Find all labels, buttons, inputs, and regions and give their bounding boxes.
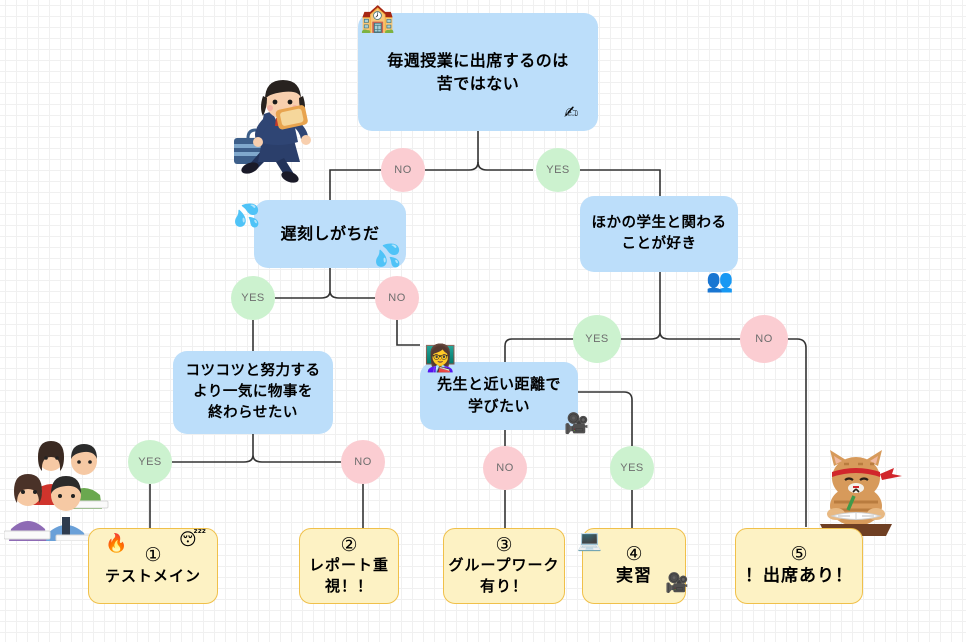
decision-no-q1[interactable]: NO: [381, 148, 425, 192]
decision-label: YES: [585, 333, 609, 345]
decision-yes-q2[interactable]: YES: [231, 276, 275, 320]
decision-label: NO: [394, 164, 412, 176]
decision-yes-q1[interactable]: YES: [536, 148, 580, 192]
decision-label: NO: [388, 292, 406, 304]
result-label-3: グループワーク 有り！: [448, 555, 559, 597]
result-box-4[interactable]: ④ 実習: [582, 528, 686, 604]
question-text-q2: 遅刻しがちだ: [280, 222, 379, 245]
result-label-1: テストメイン: [105, 566, 201, 587]
decision-yes-q3[interactable]: YES: [573, 315, 621, 363]
decision-yes-q4[interactable]: YES: [128, 440, 172, 484]
decision-label: YES: [241, 292, 265, 304]
busts-in-silhouette-icon: 👥: [706, 270, 733, 292]
question-text-q4: コツコツと努力する より一気に物事を 終わらせたい: [186, 361, 321, 424]
question-box-q3[interactable]: ほかの学生と関わる ことが好き: [580, 196, 738, 272]
question-text-q5: 先生と近い距離で 学びたい: [437, 374, 561, 418]
result-label-5: ！出席あり！: [745, 565, 853, 589]
result-number-3: ③: [495, 535, 512, 556]
result-box-5[interactable]: ⑤ ！出席あり！: [735, 528, 863, 604]
decision-no-q2[interactable]: NO: [375, 276, 419, 320]
flowchart-canvas: 毎週授業に出席するのは 苦ではない 🏫 ✍ 遅刻しがちだ 💦 💦 ほかの学生と関…: [0, 0, 966, 642]
result-number-4: ④: [625, 544, 642, 565]
decision-label: NO: [496, 462, 514, 474]
decision-no-q4[interactable]: NO: [341, 440, 385, 484]
running-student-with-toast-illustration: [228, 78, 328, 183]
question-box-q1[interactable]: 毎週授業に出席するのは 苦ではない: [358, 13, 598, 131]
decision-no-q3[interactable]: NO: [740, 315, 788, 363]
studying-cat-illustration: [810, 444, 902, 540]
result-box-2[interactable]: ② レポート重 視！！: [299, 528, 399, 604]
decision-label: YES: [546, 164, 570, 176]
question-text-q3: ほかの学生と関わる ことが好き: [592, 213, 727, 255]
result-box-3[interactable]: ③ グループワーク 有り！: [443, 528, 565, 604]
decision-label: YES: [620, 462, 644, 474]
result-label-2: レポート重 視！！: [309, 555, 389, 597]
question-text-q1: 毎週授業に出席するのは 苦ではない: [387, 49, 569, 95]
decision-label: YES: [138, 456, 162, 468]
decision-label: NO: [755, 333, 773, 345]
result-number-2: ②: [340, 535, 357, 556]
result-label-4: 実習: [616, 565, 652, 589]
question-box-q2[interactable]: 遅刻しがちだ: [254, 200, 406, 268]
question-box-q4[interactable]: コツコツと努力する より一気に物事を 終わらせたい: [173, 351, 333, 434]
decision-no-q5[interactable]: NO: [483, 446, 527, 490]
decision-yes-q5[interactable]: YES: [610, 446, 654, 490]
students-at-desks-illustration: [4, 437, 112, 541]
result-number-5: ⑤: [790, 544, 807, 565]
result-number-1: ①: [144, 545, 161, 566]
question-box-q5[interactable]: 先生と近い距離で 学びたい: [420, 362, 578, 430]
result-box-1[interactable]: ① テストメイン: [88, 528, 218, 604]
decision-label: NO: [354, 456, 372, 468]
